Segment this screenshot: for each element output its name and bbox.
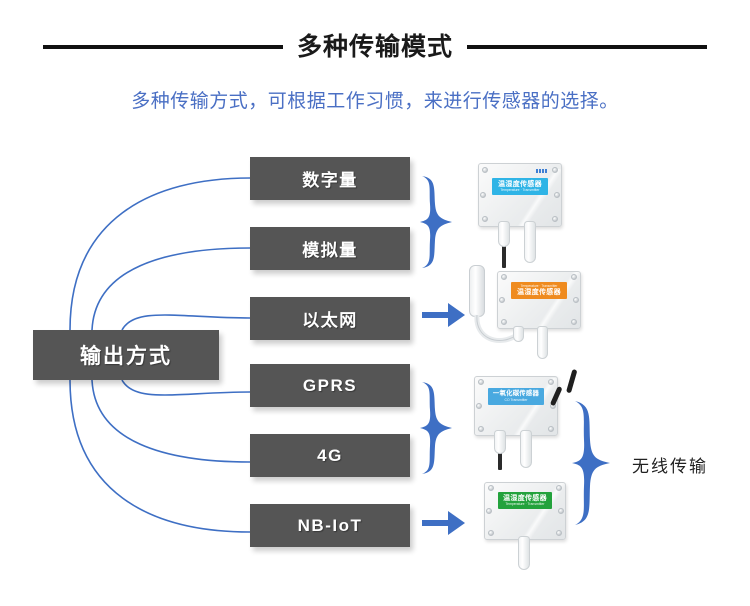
device-enclosure [474,376,558,436]
device-label-strip: 温湿度传感器 Temperature · Transmitter [498,492,552,509]
node-mode-analog-label: 模拟量 [302,236,358,261]
device-screw [488,485,494,491]
device-probe-filter [520,430,532,468]
node-mode-nbiot-label: NB-IoT [298,516,363,536]
node-mode-ethernet-label: 以太网 [302,306,358,331]
device-probe-housing [513,326,524,342]
device-screw [482,167,488,173]
device-screw [480,192,486,198]
device-screw [571,274,577,280]
brand-mark-icon [536,169,547,173]
device-screw [573,297,579,303]
device-label-cn: 温湿度传感器 [498,181,542,188]
device-label-en: Temperature · Transmitter [505,503,544,506]
brace-icon-gprs-4g [418,378,458,478]
device-screw [486,508,492,514]
device-probe-housing [494,430,506,454]
brace-icon-digital-analog [418,172,458,272]
device-screw [478,426,484,432]
device-co-sensor-blue: 一氧化碳传感器 CO Transmitter [470,368,585,473]
device-screw [554,192,560,198]
node-mode-gprs-label: GPRS [303,376,357,396]
device-label-en: Temperature · Transmitter [500,189,539,192]
transmission-modes-diagram: 输出方式 数字量 模拟量 以太网 GPRS 4G NB-IoT [0,0,750,606]
node-mode-4g-label: 4G [317,446,343,466]
wireless-group-label: 无线传输 [632,452,708,477]
device-probe-filter [524,221,536,263]
device-temp-humidity-blue: 温湿度传感器 Temperature · Transmitter [470,163,575,273]
device-screw [478,379,484,385]
node-mode-ethernet[interactable]: 以太网 [250,297,410,340]
device-remote-probe [469,265,485,317]
device-screw [571,319,577,325]
brace-icon-wireless-group [570,398,616,528]
device-probe-filter [518,536,530,570]
device-screw [556,530,562,536]
device-screw [488,530,494,536]
device-label-strip: 温湿度传感器 Temperature · Transmitter [492,178,548,195]
node-output-method[interactable]: 输出方式 [33,330,219,380]
node-mode-gprs[interactable]: GPRS [250,364,410,407]
device-screw [501,274,507,280]
node-mode-analog[interactable]: 模拟量 [250,227,410,270]
device-probe-filter [537,326,548,359]
device-screw [548,379,554,385]
device-temp-humidity-orange: Temperature · Transmitter 温湿度传感器 [455,265,580,361]
device-probe-housing [498,221,510,247]
device-screw [482,216,488,222]
device-label-cn: 温湿度传感器 [503,495,547,502]
device-label-en: Temperature · Transmitter [521,285,558,288]
device-screw [556,485,562,491]
device-screw [558,508,564,514]
device-label-strip: Temperature · Transmitter 温湿度传感器 [511,282,567,299]
device-label-strip: 一氧化碳传感器 CO Transmitter [488,388,544,405]
device-screw [499,297,505,303]
device-temp-humidity-green: 温湿度传感器 Temperature · Transmitter [478,478,583,574]
device-label-cn: 温湿度传感器 [517,289,561,296]
device-screw [476,403,482,409]
device-enclosure [484,482,566,540]
node-mode-digital[interactable]: 数字量 [250,157,410,200]
node-output-method-label: 输出方式 [80,340,172,370]
antenna-icon [566,369,577,393]
device-label-cn: 一氧化碳传感器 [493,391,539,397]
device-enclosure [478,163,562,227]
device-screw [552,216,558,222]
node-mode-digital-label: 数字量 [302,166,358,191]
device-screw [552,167,558,173]
node-mode-4g[interactable]: 4G [250,434,410,477]
node-mode-nbiot[interactable]: NB-IoT [250,504,410,547]
arrow-icon-nbiot [420,508,468,538]
device-label-en: CO Transmitter [505,399,528,402]
device-screw [548,426,554,432]
